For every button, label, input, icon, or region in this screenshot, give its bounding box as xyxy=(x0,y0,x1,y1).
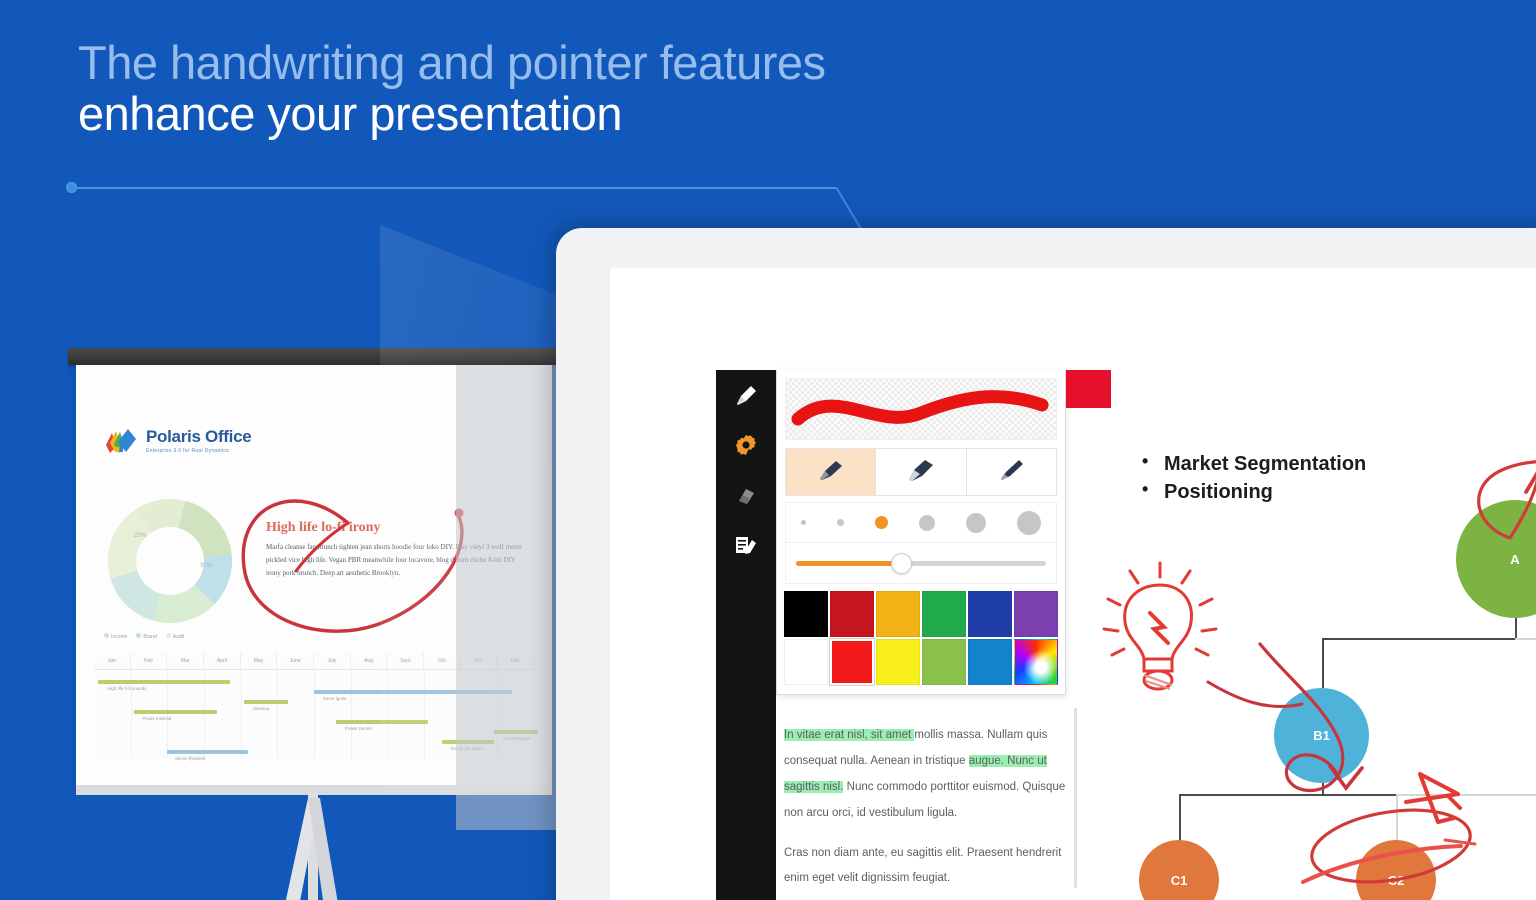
gantt-bar-label: Joensuu xyxy=(252,706,269,711)
stroke-size-5[interactable] xyxy=(966,513,986,533)
color-swatch[interactable] xyxy=(784,639,828,685)
gantt-gridline xyxy=(351,670,352,758)
diagram-edge xyxy=(1179,794,1181,840)
donut-chart: 23% 30% xyxy=(104,495,236,627)
color-swatch[interactable] xyxy=(830,591,874,637)
donut-legend: Income Brand Audit xyxy=(104,633,244,640)
gantt-bar-label: High life fi-fi sounds xyxy=(107,686,146,691)
presentation-slide-diagram: Market SegmentationPositioning AB1B2C1C2… xyxy=(1084,370,1536,900)
slider-track[interactable] xyxy=(796,561,1046,566)
gantt-bar-label: Power Denim xyxy=(345,726,372,731)
color-swatch[interactable] xyxy=(922,591,966,637)
diagram-node-c1[interactable]: C1 xyxy=(1139,840,1219,900)
color-swatch[interactable] xyxy=(876,591,920,637)
color-swatch[interactable] xyxy=(1014,591,1058,637)
opacity-slider[interactable] xyxy=(785,542,1057,584)
annotate-icon xyxy=(734,533,758,557)
gantt-gridline xyxy=(314,670,315,758)
pen-settings-panel xyxy=(776,370,1066,695)
pen-icon xyxy=(733,382,759,408)
gantt-month: July xyxy=(314,653,351,669)
palette-row-2 xyxy=(783,638,1059,686)
lightbulb-sketch-icon xyxy=(1094,555,1224,695)
panel-accent-block xyxy=(1066,370,1111,408)
slider-fill xyxy=(796,561,901,566)
eraser-tool-button[interactable] xyxy=(716,470,776,520)
slider-knob[interactable] xyxy=(891,553,912,574)
legend-item: Income xyxy=(104,633,127,640)
pen-tool-button[interactable] xyxy=(716,370,776,420)
gantt-bar-label: denim flywheel xyxy=(175,756,205,761)
projector-tripod xyxy=(76,792,552,900)
highlighted-text: In vitae erat nisl, sit amet xyxy=(784,729,914,741)
polaris-logo-icon xyxy=(104,425,138,455)
document-paragraph: In vitae erat nisl, sit amet mollis mass… xyxy=(784,723,1074,827)
diagram-edge xyxy=(1396,794,1536,796)
page-title: The handwriting and pointer features enh… xyxy=(78,38,978,140)
color-palette xyxy=(783,590,1059,686)
diagram-edge xyxy=(1515,638,1536,640)
body-text: Cras non diam ante, eu sagittis elit. Pr… xyxy=(784,847,1061,885)
legend-item: Audit xyxy=(166,633,184,640)
color-swatch[interactable] xyxy=(968,591,1012,637)
gantt-month: Mar xyxy=(167,653,204,669)
pen-tab-pen[interactable] xyxy=(786,449,876,495)
slide-bullet-list: Market SegmentationPositioning xyxy=(1134,450,1366,507)
gear-icon xyxy=(734,433,758,457)
logo-subtitle: Enterprise 3.0 for Real Dynamics xyxy=(146,448,251,454)
gantt-month: May xyxy=(241,653,278,669)
slide-bullet-item: Positioning xyxy=(1134,478,1366,506)
headline-line-2: enhance your presentation xyxy=(78,89,978,140)
annotate-tool-button[interactable] xyxy=(716,520,776,570)
diagram-node-a[interactable]: A xyxy=(1456,500,1536,618)
diagram-edge xyxy=(1515,618,1517,638)
gantt-bar xyxy=(134,710,218,714)
palette-row-1 xyxy=(783,590,1059,638)
diagram-edge xyxy=(1322,638,1324,688)
gantt-gridline xyxy=(277,670,278,758)
diagram-node-b1[interactable]: B1 xyxy=(1274,688,1369,783)
pen-icon xyxy=(816,457,846,488)
stroke-size-6[interactable] xyxy=(1017,511,1041,535)
gantt-bar-label: Pecks minimal xyxy=(142,716,171,721)
projector-screen: Polaris Office Enterprise 3.0 for Real D… xyxy=(0,330,600,900)
tablet-device: Market SegmentationPositioning AB1B2C1C2… xyxy=(556,228,1536,900)
gantt-bar-label: Sucre ignite xyxy=(323,696,347,701)
highlighter-icon xyxy=(906,457,936,488)
pen-tab-pencil[interactable] xyxy=(967,449,1056,495)
pen-tool-sidebar xyxy=(716,370,776,900)
stroke-size-selector xyxy=(785,502,1057,542)
color-swatch[interactable] xyxy=(922,639,966,685)
diagram-edge xyxy=(1322,638,1536,640)
color-swatch[interactable] xyxy=(830,639,874,685)
color-picker-swatch[interactable] xyxy=(1014,639,1058,685)
pen-tab-highlighter[interactable] xyxy=(876,449,966,495)
slide-bullet-item: Market Segmentation xyxy=(1134,450,1366,478)
svg-text:23%: 23% xyxy=(134,533,147,539)
stroke-preview[interactable] xyxy=(785,378,1057,440)
polaris-logo: Polaris Office Enterprise 3.0 for Real D… xyxy=(104,425,251,455)
document-scrollbar[interactable] xyxy=(1074,708,1077,888)
legend-item: Brand xyxy=(136,633,156,640)
svg-text:30%: 30% xyxy=(200,563,213,569)
diagram-node-c2[interactable]: C2 xyxy=(1356,840,1436,900)
gantt-bar xyxy=(167,750,248,754)
stroke-size-1[interactable] xyxy=(801,520,806,525)
color-swatch[interactable] xyxy=(876,639,920,685)
gantt-month: Jan xyxy=(94,653,131,669)
diagram-edge xyxy=(1179,794,1396,796)
stroke-size-2[interactable] xyxy=(837,519,844,526)
stroke-size-4[interactable] xyxy=(919,515,935,531)
pen-type-tabs xyxy=(785,448,1057,496)
eraser-icon xyxy=(734,483,758,507)
settings-tool-button[interactable] xyxy=(716,420,776,470)
gantt-month: Feb xyxy=(131,653,168,669)
gantt-month: April xyxy=(204,653,241,669)
document-text-column: In vitae erat nisl, sit amet mollis mass… xyxy=(784,723,1074,900)
gantt-gridline xyxy=(241,670,242,758)
stroke-size-3[interactable] xyxy=(875,516,888,529)
gantt-bar xyxy=(98,680,230,684)
color-swatch[interactable] xyxy=(784,591,828,637)
gantt-bar xyxy=(244,700,288,704)
gantt-month: June xyxy=(277,653,314,669)
diagram-edge xyxy=(1396,794,1398,840)
color-swatch[interactable] xyxy=(968,639,1012,685)
pencil-icon xyxy=(996,457,1026,488)
logo-title: Polaris Office xyxy=(146,427,251,447)
star-sketch-icon xyxy=(1394,760,1474,840)
headline-line-1: The handwriting and pointer features xyxy=(78,38,978,89)
diagram-edge xyxy=(1322,783,1324,794)
callout-line-horizontal xyxy=(76,187,836,189)
tablet-screen: Market SegmentationPositioning AB1B2C1C2… xyxy=(610,268,1536,900)
document-paragraph: Cras non diam ante, eu sagittis elit. Pr… xyxy=(784,841,1074,893)
